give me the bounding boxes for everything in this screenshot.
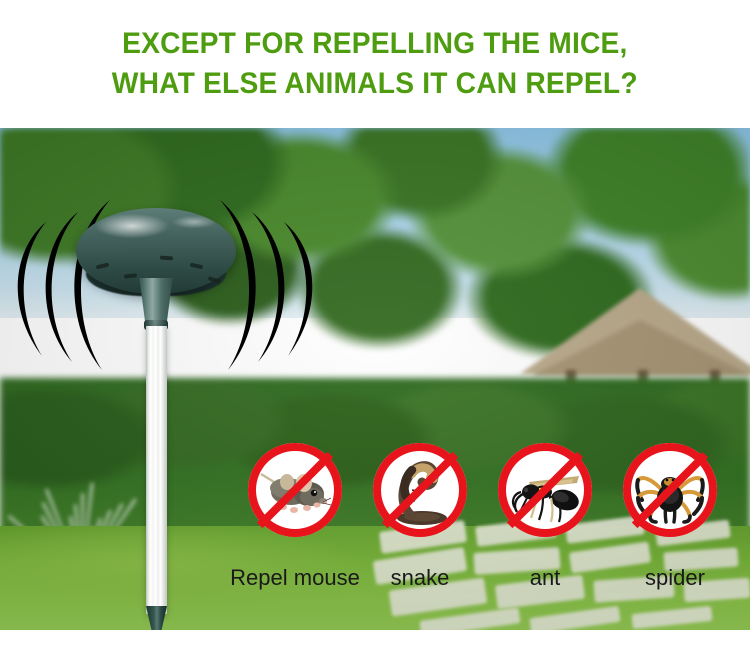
headline-line-1: EXCEPT FOR REPELLING THE MICE,: [122, 24, 627, 64]
pest-icon-ant[interactable]: [498, 443, 592, 537]
pest-label-ant: ant: [485, 565, 605, 591]
product-banner: EXCEPT FOR REPELLING THE MICE, WHAT ELSE…: [0, 0, 750, 672]
headline-block: EXCEPT FOR REPELLING THE MICE, WHAT ELSE…: [0, 0, 750, 128]
pest-label-spider: spider: [605, 565, 745, 591]
headline-line-2: WHAT ELSE ANIMALS IT CAN REPEL?: [112, 64, 638, 104]
pest-icon-mouse[interactable]: [248, 443, 342, 537]
repelled-pest-list: Repel mouse snake: [0, 128, 750, 630]
pest-icon-snake[interactable]: [373, 443, 467, 537]
pest-icon-spider[interactable]: [623, 443, 717, 537]
footer-whitespace: [0, 630, 750, 672]
pest-label-snake: snake: [350, 565, 490, 591]
